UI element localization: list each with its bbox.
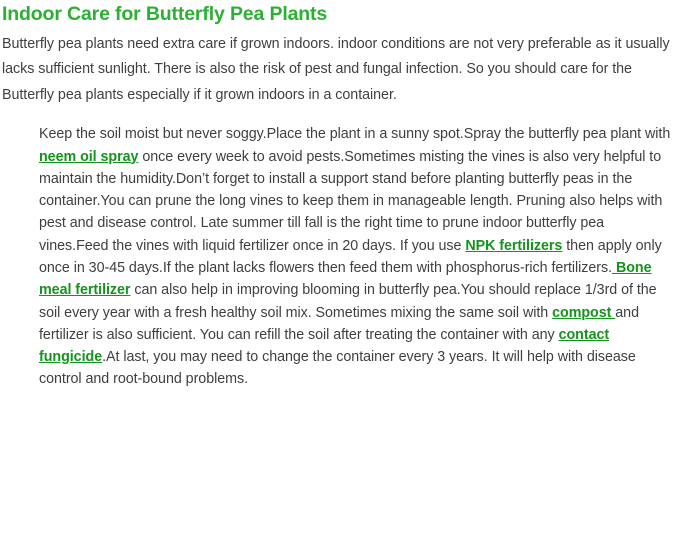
list-item-text: Spray the butterfly pea plant with (464, 126, 671, 142)
intro-paragraph: Butterfly pea plants need extra care if … (2, 32, 673, 108)
list-item-text: Place the plant in a sunny spot. (267, 126, 464, 142)
care-instructions-list: Keep the soil moist but never soggy.Plac… (2, 123, 673, 391)
list-item: At last, you may need to change the cont… (39, 349, 636, 387)
list-item: Keep the soil moist but never soggy. (39, 126, 267, 142)
article-body: Indoor Care for Butterfly Pea Plants But… (0, 0, 679, 391)
page-title: Indoor Care for Butterfly Pea Plants (2, 2, 673, 26)
list-item-text: At last, you may need to change the cont… (39, 349, 636, 387)
list-item-text: If the plant lacks flowers then feed the… (163, 260, 612, 276)
list-item-text: Keep the soil moist but never soggy. (39, 126, 267, 142)
list-item-text: once every week to avoid pests. (138, 149, 344, 165)
list-item: Place the plant in a sunny spot. (267, 126, 464, 142)
inline-link[interactable]: NPK fertilizers (465, 238, 562, 254)
list-item-text: Feed the vines with liquid fertilizer on… (76, 238, 465, 254)
inline-link[interactable]: neem oil spray (39, 149, 138, 165)
list-item-text: can also help in improving blooming in b… (130, 282, 460, 298)
inline-link[interactable]: compost (552, 305, 615, 321)
